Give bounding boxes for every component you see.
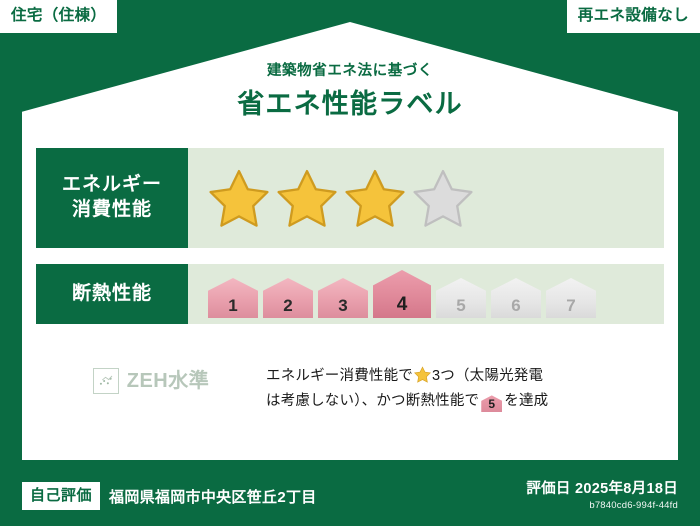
energy-performance-body: [188, 148, 664, 248]
page-title: 省エネ性能ラベル: [0, 91, 700, 118]
insulation-label-text: 断熱性能: [72, 282, 152, 307]
description-part4: を達成: [504, 393, 548, 409]
self-evaluation-badge: 自己評価: [22, 482, 100, 510]
star-filled-icon: [208, 167, 270, 229]
description-part3: は考慮しない）、かつ断熱性能で: [266, 393, 479, 409]
insulation-grade-2: 2: [263, 278, 313, 318]
title-block: 建築物省エネ法に基づく 省エネ性能ラベル: [0, 64, 700, 118]
insulation-performance-row: 断熱性能 1234567: [36, 264, 664, 324]
label-footer: 自己評価 福岡県福岡市中央区笹丘2丁目 評価日 2025年8月18日 b7840…: [0, 466, 700, 526]
info-block: ZEH水準 エネルギー消費性能で3つ（太陽光発電は考慮しない）、かつ断熱性能で5…: [36, 362, 664, 415]
evaluation-id: b7840cd6-994f-44fd: [526, 501, 678, 511]
insulation-grade-5: 5: [436, 278, 486, 318]
renewable-energy-tag: 再エネ設備なし: [567, 0, 700, 33]
achievement-description: エネルギー消費性能で3つ（太陽光発電は考慮しない）、かつ断熱性能で5を達成: [266, 362, 664, 415]
insulation-performance-label: 断熱性能: [36, 264, 188, 324]
description-part2: 3つ（太陽光発電: [432, 368, 543, 384]
energy-label-line2: 消費性能: [72, 198, 152, 223]
label-subtitle: 建築物省エネ法に基づく: [0, 64, 700, 79]
evaluation-date: 評価日 2025年8月18日: [526, 482, 678, 498]
gold-star-icon: [414, 366, 431, 383]
description-part1: エネルギー消費性能で: [266, 368, 413, 384]
sparkle-box-icon: [93, 368, 119, 394]
zeh-label: ZEH水準: [127, 371, 210, 391]
star-empty-icon: [412, 167, 474, 229]
insulation-grade-1: 1: [208, 278, 258, 318]
property-address: 福岡県福岡市中央区笹丘2丁目: [109, 486, 317, 507]
star-rating: [208, 167, 474, 229]
footer-left-group: 自己評価 福岡県福岡市中央区笹丘2丁目: [22, 482, 317, 510]
energy-label-line1: エネルギー: [62, 173, 162, 198]
insulation-grade-4: 4: [373, 270, 431, 318]
inline-grade-badge: 5: [481, 395, 502, 412]
star-filled-icon: [344, 167, 406, 229]
zeh-standard-mark: ZEH水準: [36, 362, 266, 394]
energy-performance-label: エネルギー 消費性能: [36, 148, 188, 248]
insulation-grade-6: 6: [491, 278, 541, 318]
insulation-grade-3: 3: [318, 278, 368, 318]
energy-performance-row: エネルギー 消費性能: [36, 148, 664, 248]
energy-performance-label: 住宅（住棟） 再エネ設備なし 建築物省エネ法に基づく 省エネ性能ラベル エネルギ…: [0, 0, 700, 526]
building-type-tag: 住宅（住棟）: [0, 0, 117, 33]
insulation-grade-scale: 1234567: [208, 270, 596, 318]
star-filled-icon: [276, 167, 338, 229]
insulation-grade-7: 7: [546, 278, 596, 318]
insulation-performance-body: 1234567: [188, 264, 664, 324]
footer-right-group: 評価日 2025年8月18日 b7840cd6-994f-44fd: [526, 482, 678, 510]
